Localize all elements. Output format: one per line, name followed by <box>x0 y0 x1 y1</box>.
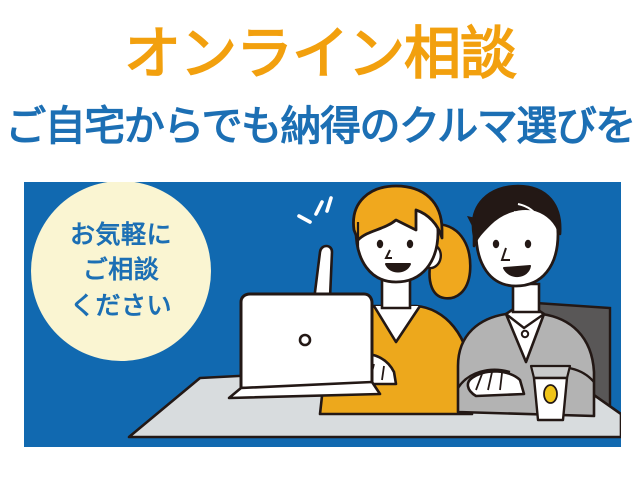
page-subtitle: ご自宅からでも納得のクルマ選びを <box>0 106 640 147</box>
woman-eye-left <box>377 240 383 248</box>
badge-line-2: ご相談 <box>83 253 160 289</box>
badge-line-3: ください <box>70 289 172 325</box>
online-consultation-banner: オンライン相談 ご自宅からでも納得のクルマ選びを <box>0 0 640 480</box>
cup-logo-icon <box>544 385 557 403</box>
page-title: オンライン相談 <box>0 26 640 83</box>
coffee-cup-icon <box>531 366 570 420</box>
man-figure-icon <box>458 186 594 416</box>
man-eye-left <box>493 240 499 248</box>
illustration-panel: お気軽に ご相談 ください <box>24 182 621 447</box>
laptop-icon <box>229 294 380 398</box>
woman-eye-right <box>407 240 413 248</box>
badge-text: お気軽に ご相談 ください <box>31 182 211 361</box>
badge-line-1: お気軽に <box>70 218 172 254</box>
man-eye-right <box>525 240 531 248</box>
laptop-logo-icon <box>300 335 310 345</box>
shirt-button-icon <box>522 331 528 337</box>
sparkle-icon <box>299 198 331 222</box>
